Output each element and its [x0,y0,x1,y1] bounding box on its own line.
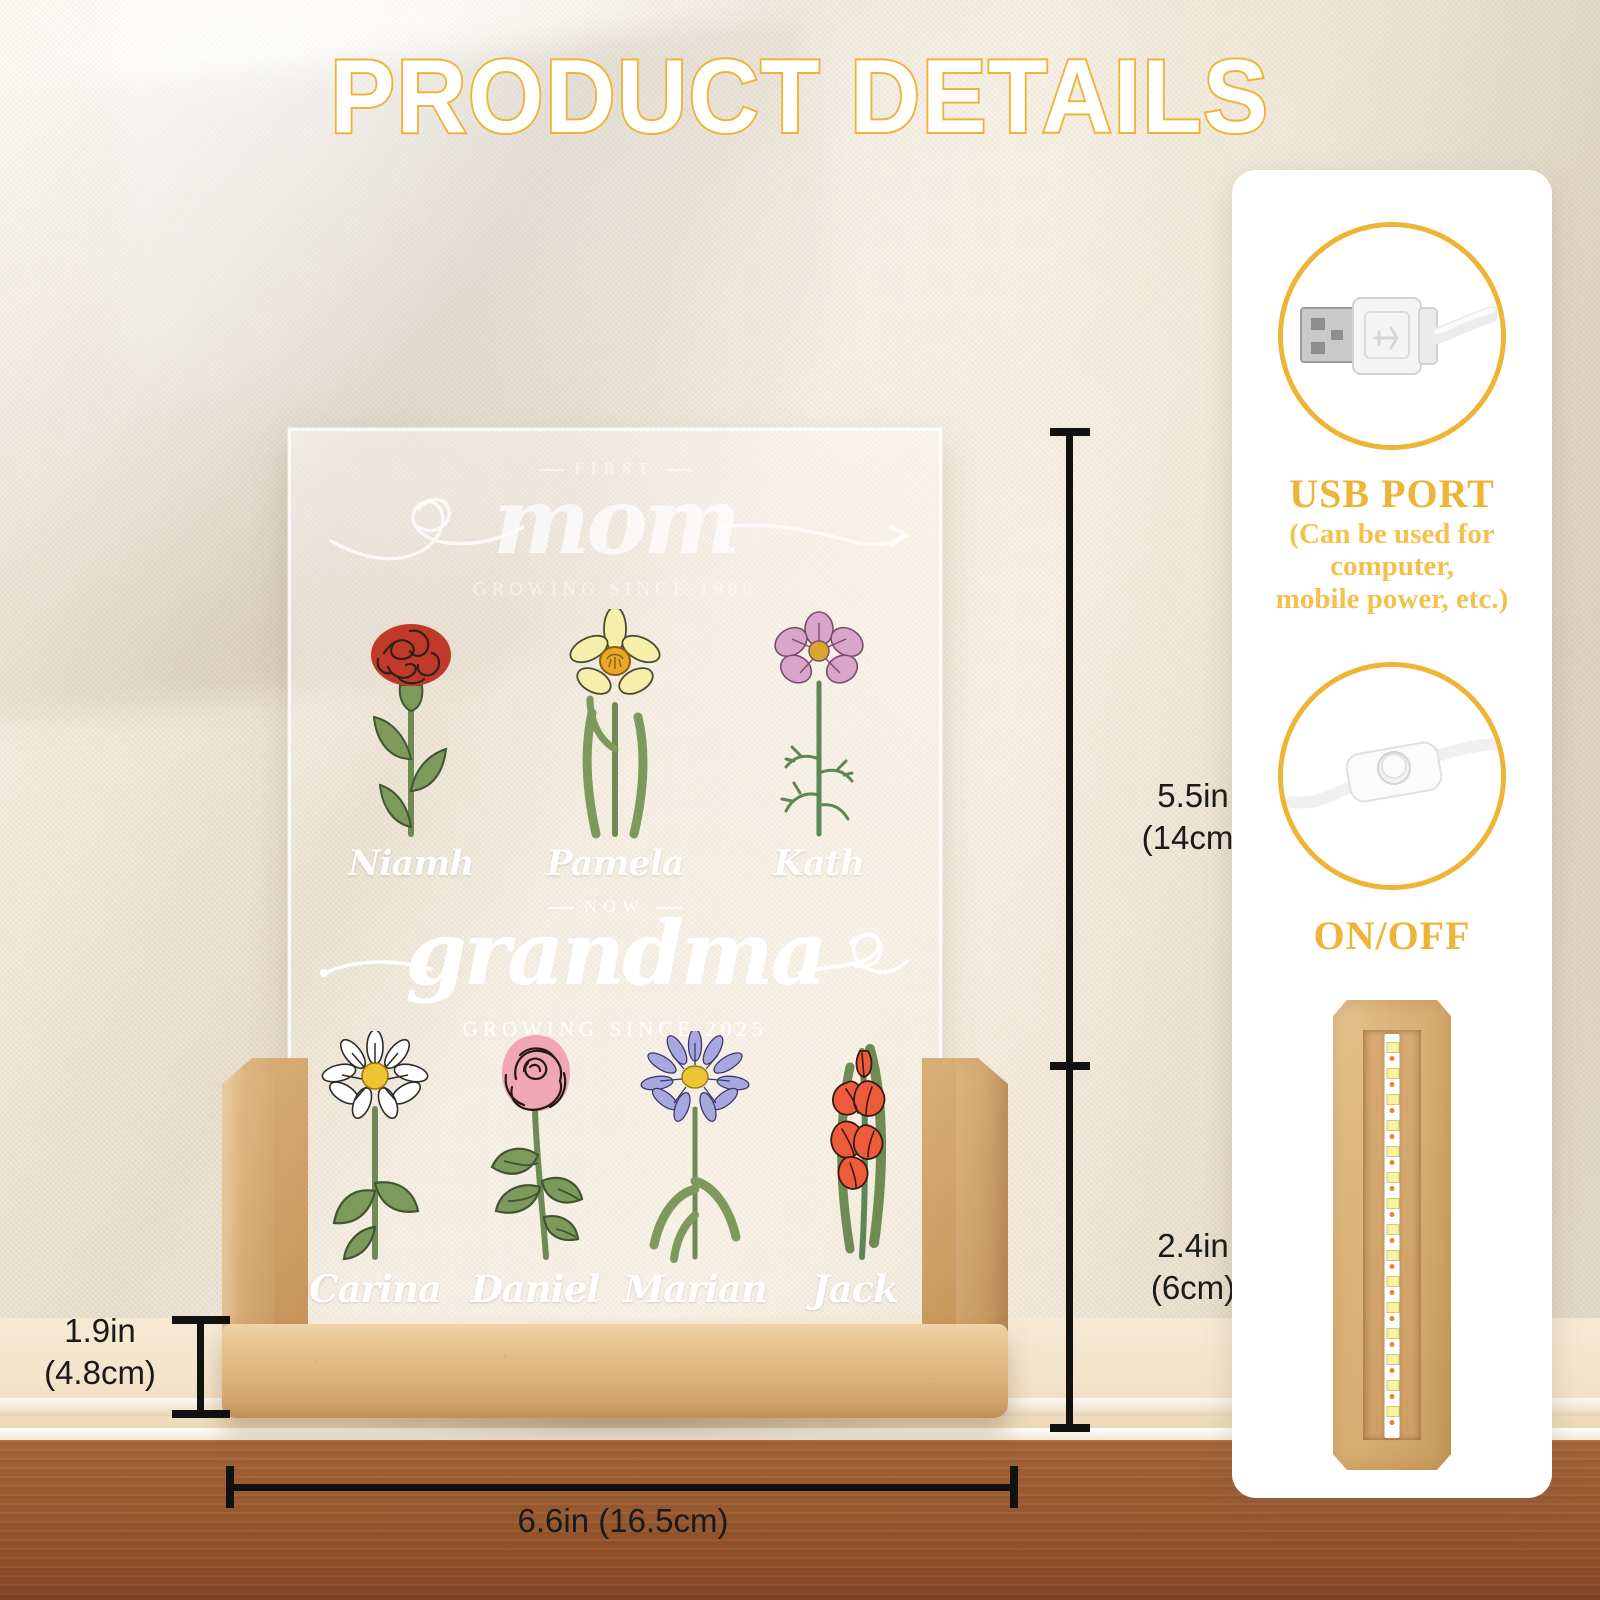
led-strip [1385,1034,1400,1438]
product-details-stage: PRODUCT DETAILS FIRST mom GROW [0,0,1600,1600]
dim-width-cap-right [1010,1466,1018,1508]
feature-card: USB PORT (Can be used for computer, mobi… [1232,170,1552,1498]
mom-heading-block: FIRST mom GROWING SINCE 1989 [291,459,939,579]
dim-height-total-cap-mid [1050,1062,1090,1070]
dim-height-base-cap-bottom [1050,1424,1090,1432]
daffodil-icon [552,609,678,839]
flower-cell: Pamela [552,609,678,884]
flower-cell: Kath [756,609,882,884]
stand-post-right [922,1058,1008,1350]
usb-port-title: USB PORT [1232,470,1552,517]
usb-circle [1278,222,1506,450]
usb-port-note: (Can be used for computer, mobile power,… [1242,518,1542,615]
led-strip-wood-base-icon [1333,1000,1451,1470]
usb-connector-icon [1287,256,1497,416]
dim-height-total-line [1066,432,1073,1432]
flower-cell: Niamh [348,609,474,884]
cosmos-icon [756,609,882,839]
on-off-title: ON/OFF [1232,912,1552,959]
carnation-icon [348,609,474,839]
dim-width-line [228,1484,1018,1491]
mom-since: GROWING SINCE 1989 [291,579,939,601]
switch-circle [1278,662,1506,890]
flower-name: Kath [774,843,865,884]
wooden-stand [222,1058,1008,1418]
page-title: PRODUCT DETAILS [56,38,1544,157]
dim-width-label: 6.6in (16.5cm) [423,1500,823,1542]
grandma-word: grandma [291,909,939,997]
mom-word: mom [291,475,939,567]
dim-depth-cap-bottom [172,1410,230,1418]
dim-width-cap-left [226,1466,234,1508]
flower-name: Pamela [546,843,683,884]
dim-height-total-cap-top [1050,428,1090,436]
dim-depth-label: 1.9in (4.8cm) [10,1310,190,1394]
flower-row-top: Niamh [291,609,939,884]
inline-switch-icon [1286,706,1498,846]
flower-name: Niamh [348,843,473,884]
stand-base [222,1324,1008,1418]
dim-depth-line [197,1320,204,1416]
stand-post-left [222,1058,308,1350]
grandma-heading-block: NOW grandma GROWING SINCE 2025 [291,897,939,1017]
